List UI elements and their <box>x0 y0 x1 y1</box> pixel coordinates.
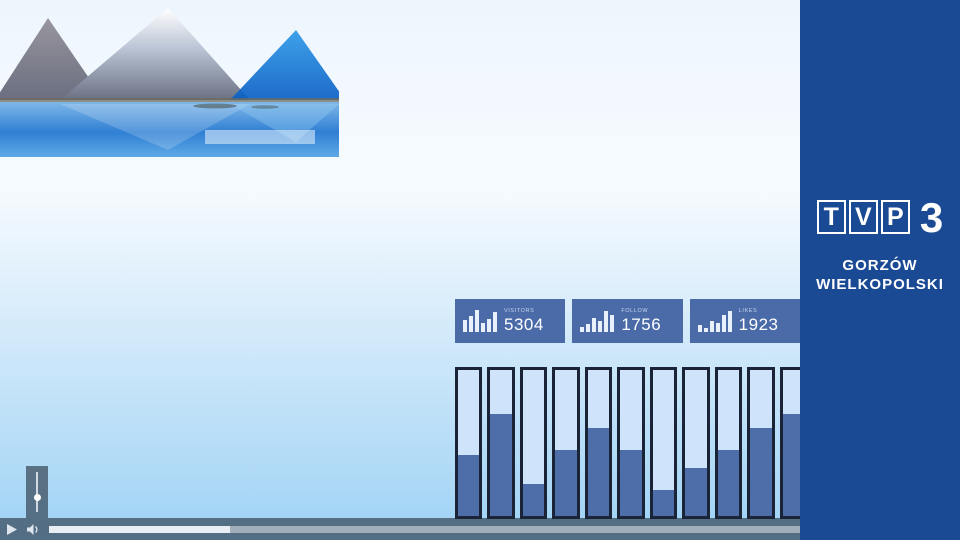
sparkline-bar <box>481 323 485 332</box>
visitors-sparkline-icon <box>463 310 497 332</box>
stat-card-visitors[interactable]: VISITORS 5304 <box>455 299 565 343</box>
gauge-bar-fill <box>620 450 641 516</box>
logo-letter-p: P <box>881 200 910 234</box>
tvp3-logo: T V P 3 GORZÓW WIELKOPOLSKI <box>800 200 960 293</box>
stat-label: LIKES <box>739 309 758 315</box>
video-scene-image <box>0 0 345 163</box>
gauge-bar <box>650 367 677 519</box>
sparkline-bar <box>698 325 702 332</box>
stat-value: 5304 <box>504 316 544 333</box>
stat-value: 1756 <box>621 316 661 333</box>
brand-city-line-1: GORZÓW <box>800 257 960 274</box>
sparkline-bar <box>710 321 714 332</box>
sparkline-bar <box>493 312 497 332</box>
sparkline-bar <box>469 316 473 332</box>
stat-label: FOLLOW <box>621 309 648 315</box>
gauge-bar-fill <box>555 450 576 516</box>
gauge-bar <box>455 367 482 519</box>
gauge-bar <box>715 367 742 519</box>
gauge-bar-fill <box>523 484 544 516</box>
gauge-bar <box>747 367 774 519</box>
gauge-bar-fill <box>685 468 706 516</box>
gauge-bar-fill <box>750 428 771 516</box>
likes-sparkline-icon <box>698 310 732 332</box>
sparkline-bar <box>463 320 467 332</box>
sparkline-bar <box>704 328 708 332</box>
sparkline-bar <box>598 321 602 332</box>
logo-letter-v: V <box>849 200 878 234</box>
sparkline-bar <box>722 315 726 332</box>
gauge-bar <box>487 367 514 519</box>
gauge-bar <box>552 367 579 519</box>
stat-card-follow[interactable]: FOLLOW 1756 <box>572 299 682 343</box>
sparkline-bar <box>580 327 584 332</box>
brand-city-line-2: WIELKOPOLSKI <box>800 276 960 293</box>
sparkline-bar <box>610 315 614 332</box>
sparkline-bar <box>604 311 608 332</box>
logo-letter-t: T <box>817 200 846 234</box>
gauge-bar <box>585 367 612 519</box>
gauge-bar <box>520 367 547 519</box>
sparkline-bar <box>728 311 732 332</box>
stat-cards-row: VISITORS 5304 FOLLOW 1756 LIKES 1923 <box>455 299 800 343</box>
brand-panel: T V P 3 GORZÓW WIELKOPOLSKI <box>800 0 960 540</box>
gauge-bar <box>682 367 709 519</box>
video-player[interactable] <box>0 0 345 163</box>
gauge-bar-fill <box>718 450 739 516</box>
logo-number-three: 3 <box>920 202 943 234</box>
gauge-bar-fill <box>588 428 609 516</box>
sparkline-bar <box>716 323 720 332</box>
gauge-bar-fill <box>490 414 511 516</box>
stat-label: VISITORS <box>504 309 534 315</box>
gauge-bar <box>617 367 644 519</box>
gauge-bar-fill <box>653 490 674 516</box>
follow-sparkline-icon <box>580 310 614 332</box>
stat-value: 1923 <box>739 316 779 333</box>
gauge-bar-fill <box>458 455 479 516</box>
sparkline-bar <box>475 310 479 332</box>
stat-card-likes[interactable]: LIKES 1923 <box>690 299 800 343</box>
sparkline-bar <box>586 324 590 332</box>
sparkline-bar <box>487 319 491 332</box>
gauge-bar-chart <box>455 367 807 519</box>
sparkline-bar <box>592 318 596 332</box>
